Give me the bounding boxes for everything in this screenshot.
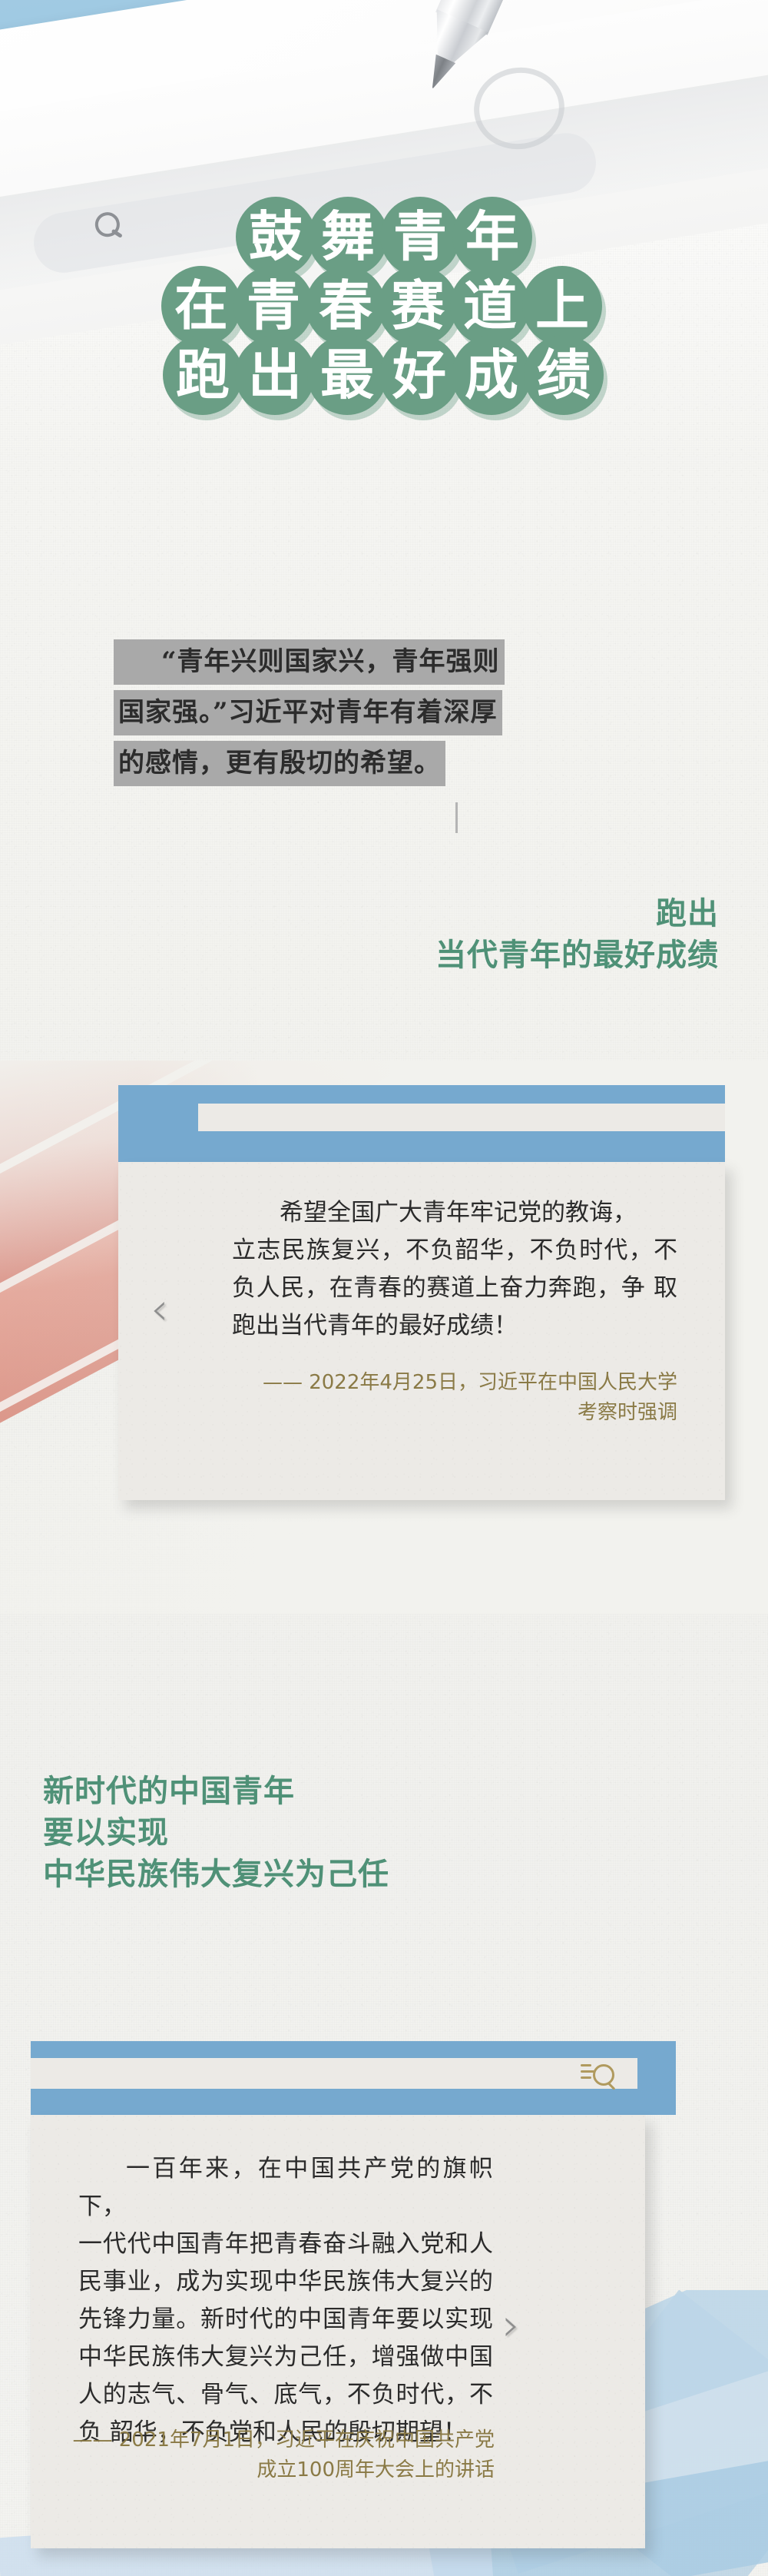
card-attribution: —— 2021年7月1日，习近平在庆祝中国共产党 成立100周年大会上的讲话 bbox=[71, 2425, 495, 2485]
quote-card-2: › 一百年来，在中国共产党的旗帜下， 一代代中国青年把青春奋斗融入党和人 民事业… bbox=[31, 2041, 676, 2548]
section-heading-row: 要以实现 bbox=[40, 1814, 392, 1853]
section-heading-2: 新时代的中国青年 要以实现 中华民族伟大复兴为己任 bbox=[40, 1772, 392, 1897]
title-char-bubble: 鼓 bbox=[236, 197, 316, 277]
search-icon-ring bbox=[593, 2064, 614, 2086]
section-heading-row: 新时代的中国青年 bbox=[40, 1772, 392, 1811]
lead-quote: “青年兴则国家兴，青年强则 国家强。”习近平对青年有着深厚 的感情，更有殷切的希… bbox=[114, 639, 671, 792]
title-char-bubble: 舞 bbox=[308, 197, 388, 277]
chevron-right-icon[interactable]: › bbox=[502, 2302, 520, 2347]
lead-quote-line: 的感情，更有殷切的希望。 bbox=[114, 741, 445, 786]
section-heading-text: 新时代的中国青年 bbox=[40, 1772, 298, 1811]
section-heading-row: 中华民族伟大复兴为己任 bbox=[40, 1855, 392, 1894]
title-char-bubble: 青 bbox=[380, 197, 460, 277]
title-char-bubble: 春 bbox=[306, 266, 386, 346]
card-body-line: 负人民，在青春的赛道上奋力奔跑，争 bbox=[232, 1274, 645, 1302]
card-body-line: 中华民族伟大复兴为己任，增强做中国 bbox=[78, 2343, 493, 2371]
title-char-bubble: 成 bbox=[452, 335, 531, 415]
card-body-line: 一百年来，在中国共产党的旗帜下， bbox=[78, 2150, 493, 2226]
title-line-3: 跑 出 最 好 成 绩 bbox=[0, 335, 768, 415]
section-heading-text: 当代青年的最好成绩 bbox=[432, 936, 722, 975]
title-char-bubble: 出 bbox=[235, 335, 315, 415]
poster-page: 鼓 舞 青 年 在 青 春 赛 道 上 跑 出 最 好 成 绩 “青年兴则国家兴… bbox=[0, 0, 768, 2576]
heading-highlight-bar bbox=[37, 1838, 175, 1851]
title-char-bubble: 上 bbox=[522, 266, 602, 346]
card-titlebar-field bbox=[198, 1104, 725, 1131]
title-char-bubble: 好 bbox=[379, 335, 459, 415]
title-char-bubble: 年 bbox=[452, 197, 532, 277]
section-heading-text: 跑出 bbox=[653, 895, 722, 934]
page-title: 鼓 舞 青 年 在 青 春 赛 道 上 跑 出 最 好 成 绩 bbox=[0, 197, 768, 404]
heading-highlight-bar bbox=[650, 919, 725, 932]
card-attribution-line: —— 2021年7月1日，习近平在庆祝中国共产党 bbox=[72, 2428, 495, 2452]
heading-highlight-bar bbox=[37, 1881, 396, 1894]
title-char-bubble: 赛 bbox=[378, 266, 458, 346]
card-attribution-line: 考察时强调 bbox=[578, 1401, 677, 1424]
heading-highlight-bar bbox=[429, 961, 725, 974]
lead-quote-line: 国家强。”习近平对青年有着深厚 bbox=[114, 690, 502, 735]
title-char-bubble: 绩 bbox=[524, 335, 604, 415]
chevron-left-icon[interactable]: ‹ bbox=[151, 1286, 168, 1331]
card-attribution-line: 成立100周年大会上的讲话 bbox=[257, 2458, 495, 2481]
search-icon-handle bbox=[607, 2082, 616, 2090]
title-char-bubble: 最 bbox=[307, 335, 387, 415]
card-titlebar-field bbox=[31, 2058, 637, 2089]
title-char-bubble: 在 bbox=[161, 266, 241, 346]
quote-card-1: ‹ 希望全国广大青年牢记党的教诲， 立志民族复兴，不负韶华，不负时代，不 负人民… bbox=[118, 1085, 725, 1500]
section-heading-text: 中华民族伟大复兴为己任 bbox=[40, 1855, 392, 1894]
lead-quote-line: “青年兴则国家兴，青年强则 bbox=[114, 639, 505, 685]
card-body-text: 一百年来，在中国共产党的旗帜下， 一代代中国青年把青春奋斗融入党和人 民事业，成… bbox=[78, 2150, 493, 2452]
section-heading-text: 要以实现 bbox=[40, 1814, 172, 1853]
title-line-1: 鼓 舞 青 年 bbox=[0, 197, 768, 277]
heading-highlight-bar bbox=[37, 1797, 301, 1810]
title-char-bubble: 道 bbox=[450, 266, 530, 346]
search-icon[interactable] bbox=[581, 2060, 614, 2090]
card-body-line: 希望全国广大青年牢记党的教诲， bbox=[232, 1194, 677, 1232]
card-body-line: 一代代中国青年把青春奋斗融入党和人 bbox=[78, 2230, 493, 2258]
card-body-line: 民事业，成为实现中华民族伟大复兴的 bbox=[78, 2268, 493, 2295]
card-body-line: 先锋力量。新时代的中国青年要以实现 bbox=[78, 2305, 493, 2333]
card-body-text: 希望全国广大青年牢记党的教诲， 立志民族复兴，不负韶华，不负时代，不 负人民，在… bbox=[232, 1194, 677, 1345]
card-attribution: —— 2022年4月25日，习近平在中国人民大学 考察时强调 bbox=[232, 1368, 677, 1428]
title-line-2: 在 青 春 赛 道 上 bbox=[0, 266, 768, 346]
quote-tail-divider bbox=[455, 802, 458, 833]
section-heading-row: 当代青年的最好成绩 bbox=[432, 936, 722, 975]
card-attribution-line: —— 2022年4月25日，习近平在中国人民大学 bbox=[263, 1371, 677, 1394]
section-heading-row: 跑出 bbox=[432, 895, 722, 934]
section-heading-1: 跑出 当代青年的最好成绩 bbox=[432, 895, 722, 978]
card-body-line: 立志民族复兴，不负韶华，不负时代，不 bbox=[232, 1237, 677, 1264]
title-char-bubble: 跑 bbox=[163, 335, 243, 415]
title-char-bubble: 青 bbox=[233, 266, 313, 346]
